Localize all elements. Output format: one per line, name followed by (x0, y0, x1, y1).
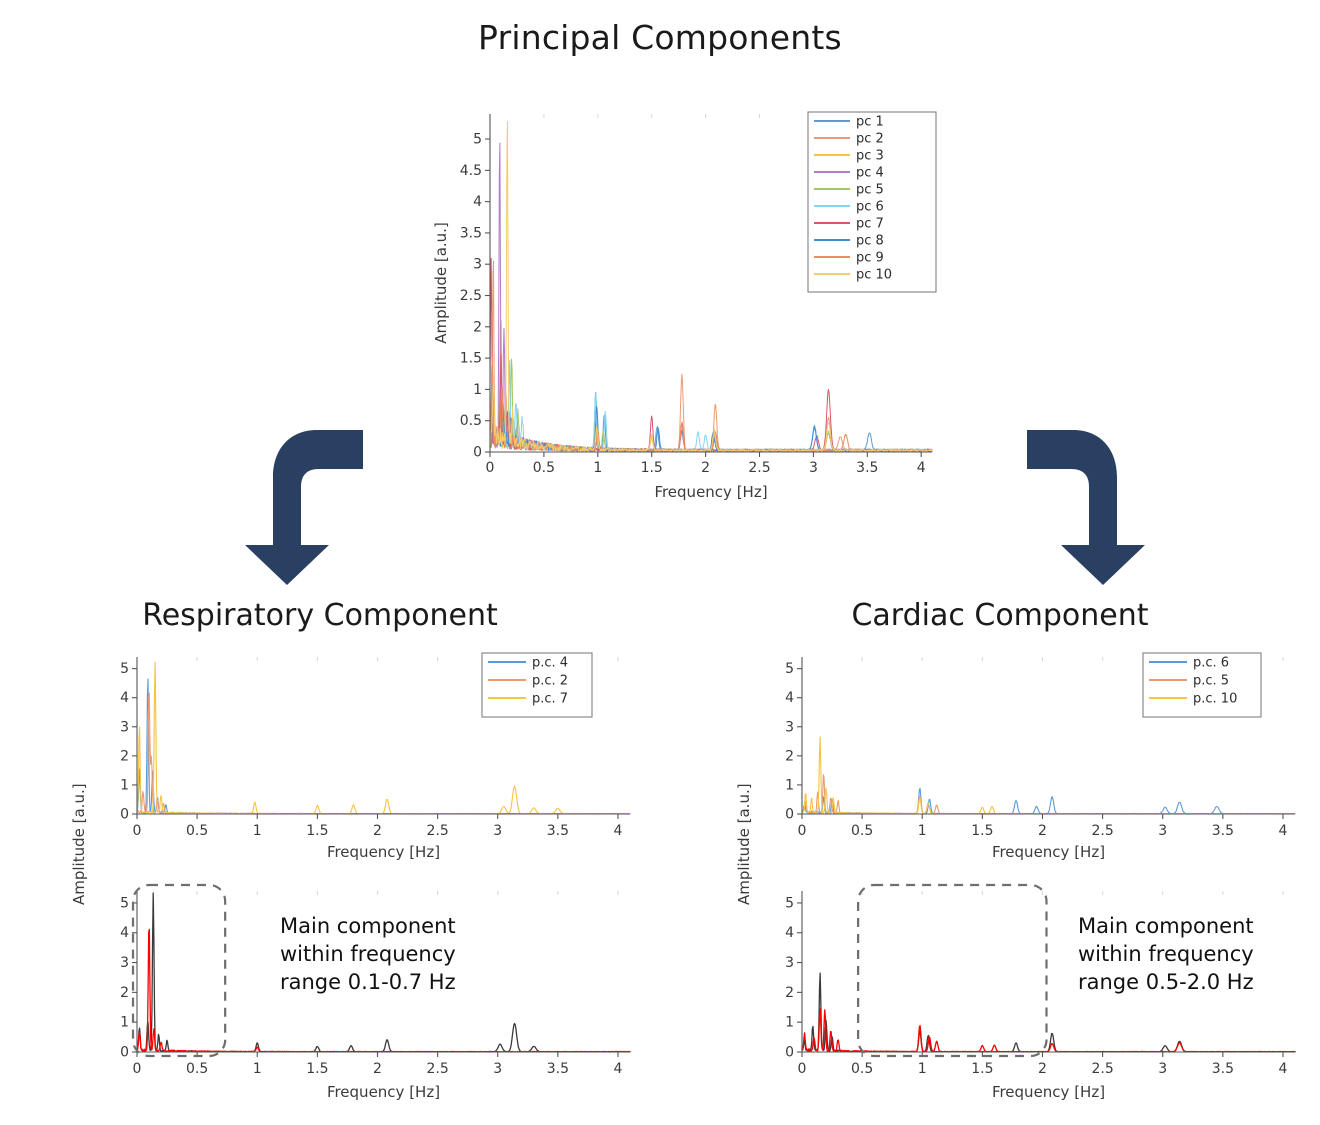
respiratory-section-title: Respiratory Component (20, 598, 620, 633)
x-tick-label: 2.5 (426, 823, 448, 839)
x-tick-label: 2.5 (1091, 1061, 1113, 1077)
principal-components-spectrum-series-pc-5 (490, 359, 932, 451)
annotation-line: range 0.1-0.7 Hz (280, 970, 456, 994)
x-tick-label: 0.5 (851, 823, 873, 839)
x-tick-label: 1 (918, 823, 927, 839)
x-tick-label: 3 (1158, 823, 1167, 839)
arrow-to-cardiac-path (1027, 430, 1145, 585)
chart-respiratory-selected-pcs: 00.511.522.533.54012345Frequency [Hz]p.c… (95, 645, 640, 860)
chart-cardiac-filtered-svg: 00.511.522.533.54012345Frequency [Hz]Mai… (760, 875, 1305, 1100)
y-tick-label: 2 (785, 985, 794, 1001)
chart-cardiac-selected-pcs: 00.511.522.533.54012345Frequency [Hz]p.c… (760, 645, 1305, 860)
y-tick-label: 4 (785, 690, 794, 706)
y-tick-label: 3 (785, 719, 794, 735)
annotation-line: within frequency (1078, 942, 1254, 966)
y-tick-label: 3.5 (460, 225, 482, 241)
respiratory-filtered-annotation: Main componentwithin frequencyrange 0.1-… (280, 914, 456, 994)
cardiac-selected-pcs-series-p-c-10 (802, 737, 1295, 814)
x-tick-label: 1 (253, 1061, 262, 1077)
y-tick-label: 5 (120, 661, 129, 677)
x-tick-label: 0.5 (186, 823, 208, 839)
x-tick-label: 0 (486, 460, 495, 476)
legend-label: p.c. 4 (532, 656, 568, 671)
x-tick-label: 2.5 (426, 1061, 448, 1077)
y-tick-label: 0.5 (460, 413, 482, 429)
y-tick-label: 3 (785, 955, 794, 971)
x-tick-label: 0.5 (186, 1061, 208, 1077)
x-tick-label: 1.5 (971, 1061, 993, 1077)
x-tick-label: 3 (809, 460, 818, 476)
legend-label: p.c. 2 (532, 674, 568, 689)
annotation-line: range 0.5-2.0 Hz (1078, 970, 1254, 994)
x-tick-label: 2 (1038, 1061, 1047, 1077)
cardiac-filtered-highlight-band (858, 885, 1046, 1056)
y-tick-label: 0 (473, 445, 482, 461)
y-tick-label: 4 (785, 925, 794, 941)
legend-label: pc 4 (856, 166, 884, 181)
chart-respiratory-filtered: 00.511.522.533.54012345Frequency [Hz]Mai… (95, 875, 640, 1100)
cardiac-selected-pcs-x-axis-label: Frequency [Hz] (992, 843, 1105, 860)
y-tick-label: 2 (473, 319, 482, 335)
x-tick-label: 3 (493, 1061, 502, 1077)
annotation-line: Main component (280, 914, 456, 938)
y-tick-label: 1 (473, 382, 482, 398)
cardiac-selected-pcs-series-p-c-5 (802, 775, 1295, 814)
x-tick-label: 4 (1279, 1061, 1288, 1077)
x-tick-label: 3.5 (1212, 1061, 1234, 1077)
legend-label: p.c. 10 (1193, 692, 1237, 707)
y-tick-label: 0 (120, 1045, 129, 1061)
x-tick-label: 1 (253, 823, 262, 839)
arrow-to-cardiac (1015, 425, 1145, 594)
arrow-to-respiratory-path (245, 430, 363, 585)
cardiac-section-title: Cardiac Component (700, 598, 1300, 633)
y-tick-label: 0 (785, 807, 794, 823)
legend-label: pc 5 (856, 183, 884, 198)
cardiac-selected-pcs-legend: p.c. 6p.c. 5p.c. 10 (1143, 653, 1261, 717)
principal-components-spectrum-series-pc-6 (490, 360, 932, 451)
y-tick-label: 3 (473, 257, 482, 273)
x-tick-label: 2 (1038, 823, 1047, 839)
y-tick-label: 1 (785, 777, 794, 793)
y-tick-label: 4 (473, 194, 482, 210)
y-tick-label: 0 (785, 1045, 794, 1061)
x-tick-label: 1 (918, 1061, 927, 1077)
y-tick-label: 0 (120, 807, 129, 823)
y-tick-label: 2 (120, 985, 129, 1001)
legend-label: p.c. 6 (1193, 656, 1229, 671)
y-tick-label: 5 (785, 895, 794, 911)
annotation-line: Main component (1078, 914, 1254, 938)
respiratory-selected-pcs-x-axis-label: Frequency [Hz] (327, 843, 440, 860)
x-tick-label: 3 (1158, 1061, 1167, 1077)
principal-components-spectrum-series-pc-9 (490, 357, 932, 452)
legend-label: p.c. 7 (532, 692, 568, 707)
y-tick-label: 2.5 (460, 288, 482, 304)
x-tick-label: 4 (1279, 823, 1288, 839)
chart-principal-components-svg: 00.511.522.533.5400.511.522.533.544.55Fr… (430, 100, 950, 500)
x-tick-label: 3.5 (856, 460, 878, 476)
legend-label: pc 6 (856, 200, 884, 215)
chart-cardiac-selected-pcs-svg: 00.511.522.533.54012345Frequency [Hz]p.c… (760, 645, 1305, 860)
legend-label: pc 7 (856, 217, 884, 232)
x-tick-label: 4 (917, 460, 926, 476)
y-tick-label: 3 (120, 719, 129, 735)
legend-label: pc 9 (856, 251, 884, 266)
chart-respiratory-filtered-svg: 00.511.522.533.54012345Frequency [Hz]Mai… (95, 875, 640, 1100)
principal-components-spectrum-legend: pc 1pc 2pc 3pc 4pc 5pc 6pc 7pc 8pc 9pc 1… (808, 112, 936, 292)
legend-label: pc 8 (856, 234, 884, 249)
y-tick-label: 1 (120, 777, 129, 793)
y-tick-label: 5 (120, 895, 129, 911)
y-tick-label: 1.5 (460, 351, 482, 367)
x-tick-label: 1.5 (641, 460, 663, 476)
y-tick-label: 3 (120, 955, 129, 971)
x-tick-label: 3.5 (547, 823, 569, 839)
x-tick-label: 0 (133, 1061, 142, 1077)
chart-principal-components: 00.511.522.533.5400.511.522.533.544.55Fr… (430, 100, 950, 500)
page-title: Principal Components (0, 18, 1320, 57)
cardiac-shared-y-axis-label: Amplitude [a.u.] (735, 783, 753, 905)
legend-label: pc 10 (856, 268, 892, 283)
annotation-line: within frequency (280, 942, 456, 966)
legend-label: pc 1 (856, 115, 884, 130)
legend-label: pc 3 (856, 149, 884, 164)
y-tick-label: 4 (120, 925, 129, 941)
x-tick-label: 2.5 (1091, 823, 1113, 839)
x-tick-label: 0.5 (851, 1061, 873, 1077)
principal-components-spectrum-series-pc-8 (490, 383, 932, 451)
arrow-to-respiratory (245, 425, 375, 594)
cardiac-filtered-x-axis-label: Frequency [Hz] (992, 1083, 1105, 1100)
cardiac-selected-pcs-series-p-c-6 (802, 788, 1295, 814)
respiratory-selected-pcs-legend: p.c. 4p.c. 2p.c. 7 (482, 653, 592, 717)
x-tick-label: 0 (798, 1061, 807, 1077)
x-tick-label: 2.5 (748, 460, 770, 476)
x-tick-label: 1 (593, 460, 602, 476)
respiratory-shared-y-axis-label: Amplitude [a.u.] (70, 783, 88, 905)
x-tick-label: 2 (701, 460, 710, 476)
y-tick-label: 4 (120, 690, 129, 706)
y-tick-label: 2 (785, 748, 794, 764)
cardiac-filtered-series-filtered (802, 1009, 1295, 1052)
x-tick-label: 2 (373, 1061, 382, 1077)
y-tick-label: 1 (120, 1015, 129, 1031)
x-tick-label: 1.5 (971, 823, 993, 839)
y-tick-label: 4.5 (460, 163, 482, 179)
chart-cardiac-filtered: 00.511.522.533.54012345Frequency [Hz]Mai… (760, 875, 1305, 1100)
y-tick-label: 5 (785, 661, 794, 677)
y-tick-label: 1 (785, 1015, 794, 1031)
x-tick-label: 1.5 (306, 823, 328, 839)
legend-label: p.c. 5 (1193, 674, 1229, 689)
x-tick-label: 4 (614, 1061, 623, 1077)
x-tick-label: 1.5 (306, 1061, 328, 1077)
legend-label: pc 2 (856, 132, 884, 147)
x-tick-label: 3 (493, 823, 502, 839)
x-tick-label: 0 (798, 823, 807, 839)
principal-components-spectrum-y-axis-label: Amplitude [a.u.] (432, 222, 450, 344)
principal-components-spectrum-series-pc-1 (490, 371, 932, 451)
y-tick-label: 2 (120, 748, 129, 764)
principal-components-spectrum-x-axis-label: Frequency [Hz] (654, 483, 767, 500)
respiratory-filtered-x-axis-label: Frequency [Hz] (327, 1083, 440, 1100)
x-tick-label: 0.5 (533, 460, 555, 476)
chart-respiratory-selected-pcs-svg: 00.511.522.533.54012345Frequency [Hz]p.c… (95, 645, 640, 860)
x-tick-label: 3.5 (1212, 823, 1234, 839)
x-tick-label: 2 (373, 823, 382, 839)
x-tick-label: 0 (133, 823, 142, 839)
cardiac-filtered-annotation: Main componentwithin frequencyrange 0.5-… (1078, 914, 1254, 994)
y-tick-label: 5 (473, 132, 482, 148)
x-tick-label: 4 (614, 823, 623, 839)
x-tick-label: 3.5 (547, 1061, 569, 1077)
